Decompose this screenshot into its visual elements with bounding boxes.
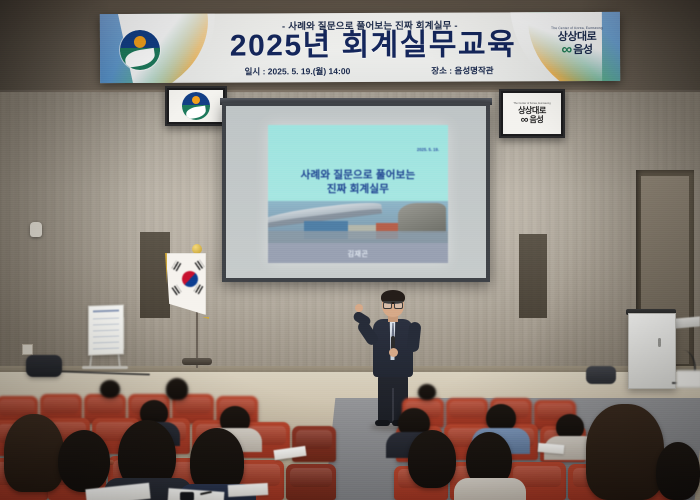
flag-pole-finial (192, 244, 202, 254)
slide-presenter-name: 김재곤 (268, 249, 448, 259)
wall-display-right: The Center of Korea, Eumseong 상상대로 ∞ 음성 (499, 89, 565, 138)
whiteboard-easel (88, 304, 124, 355)
attendee-head (166, 378, 188, 400)
banner-location: 장소 : 음성명작관 (431, 64, 493, 76)
audience-seating (0, 386, 700, 500)
smartphone-icon (180, 492, 194, 500)
wall-recess-right (519, 234, 547, 318)
cabinet-handle (658, 338, 661, 347)
slide-cityscape-photo (268, 201, 448, 243)
wall-display-left (165, 86, 227, 126)
wall-speaker-icon (30, 222, 42, 237)
equipment-bag-right (586, 366, 616, 384)
display-brand-line2: 음성 (529, 115, 543, 125)
attendee-head (656, 442, 700, 500)
slide-title-line2: 진짜 회계실무 (268, 181, 448, 196)
av-cabinet (628, 313, 676, 389)
slide-date: 2025. 5. 19. (417, 147, 439, 152)
wall-recess-left (140, 232, 170, 318)
brand-line1: 상상대로 (546, 31, 608, 43)
attendee-head (586, 404, 664, 500)
eumseong-brand-logo: The Center of Korea, Eumseong 상상대로 ∞ 음성 (546, 26, 608, 70)
easel-foot (82, 366, 128, 369)
eumseong-emblem-icon-small (182, 92, 210, 120)
event-banner: - 사례와 질문으로 풀어보는 진짜 회계실무 - 2025년 회계실무교육 일… (100, 12, 620, 83)
upper-wall-shadow-left (0, 0, 110, 96)
brand-line2: 음성 (573, 43, 592, 55)
banner-title: 2025년 회계실무교육 (178, 28, 568, 64)
infinity-icon: ∞ (561, 43, 572, 56)
banner-meta: 일시 : 2025. 5. 19.(월) 14:00 장소 : 음성명작관 (204, 64, 534, 77)
display-brand-line1: 상상대로 (513, 106, 550, 115)
handout-paper (228, 483, 269, 497)
infinity-icon-small: ∞ (521, 116, 529, 125)
seminar-photo-scene: - 사례와 질문으로 풀어보는 진짜 회계실무 - 2025년 회계실무교육 일… (0, 0, 700, 500)
wall-outlet (22, 344, 33, 355)
eumseong-county-emblem-icon (120, 30, 160, 70)
attendee-head (418, 384, 436, 400)
slide-title-line1: 사례와 질문으로 풀어보는 (268, 167, 448, 182)
eyeglasses-icon (383, 301, 403, 307)
equipment-bag-left (26, 355, 62, 377)
wall-shadow-left (0, 92, 150, 380)
attendee-head (4, 414, 64, 492)
banner-datetime: 일시 : 2025. 5. 19.(월) 14:00 (245, 65, 351, 77)
attendee-head (100, 380, 120, 398)
attendee-head (58, 430, 110, 492)
attendee-head (408, 430, 456, 488)
seat (286, 464, 336, 500)
projected-slide: 2025. 5. 19. 사례와 질문으로 풀어보는 진짜 회계실무 김재곤 (268, 125, 448, 263)
flag-stand-base (182, 358, 212, 365)
attendee-shoulders (454, 478, 526, 500)
